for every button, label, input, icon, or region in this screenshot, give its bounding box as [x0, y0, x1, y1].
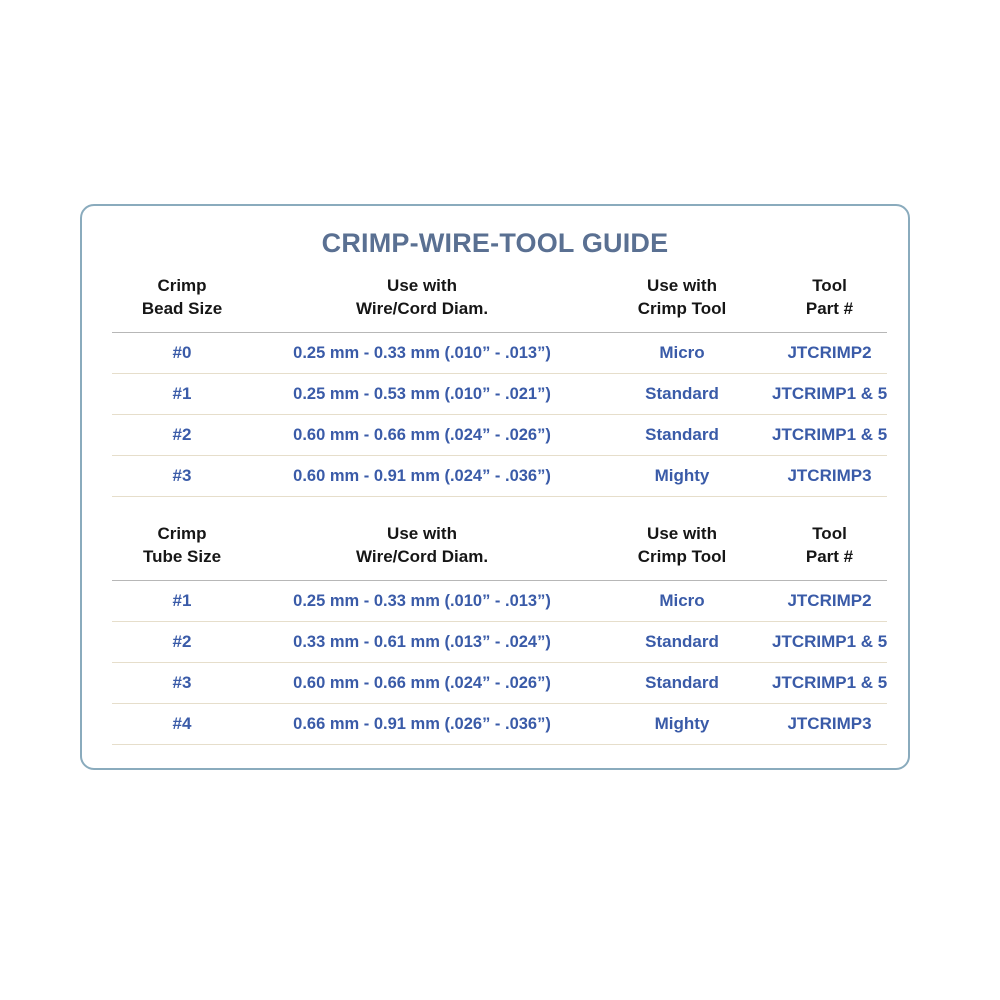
cell-tool-part-number: JTCRIMP1 & 5 — [772, 384, 887, 404]
column-header-wire-cord-diam: Use with Wire/Cord Diam. — [252, 522, 592, 569]
page-title: CRIMP-WIRE-TOOL GUIDE — [82, 228, 908, 259]
cell-bead-size: #0 — [112, 343, 252, 363]
column-header-crimp-tool: Use with Crimp Tool — [592, 274, 772, 321]
table-row: #0 0.25 mm - 0.33 mm (.010” - .013”) Mic… — [112, 333, 887, 373]
crimp-wire-tool-guide-card: CRIMP-WIRE-TOOL GUIDE Crimp Bead Size Us… — [80, 204, 910, 770]
table-row: #2 0.33 mm - 0.61 mm (.013” - .024”) Sta… — [112, 622, 887, 662]
table-header-row: Crimp Tube Size Use with Wire/Cord Diam.… — [112, 522, 887, 580]
cell-bead-size: #3 — [112, 466, 252, 486]
cell-tool-part-number: JTCRIMP1 & 5 — [772, 425, 887, 445]
cell-tool-part-number: JTCRIMP1 & 5 — [772, 673, 887, 693]
cell-tube-size: #3 — [112, 673, 252, 693]
cell-crimp-tool: Micro — [592, 591, 772, 611]
cell-tube-size: #4 — [112, 714, 252, 734]
column-header-crimp-tool: Use with Crimp Tool — [592, 522, 772, 569]
cell-crimp-tool: Standard — [592, 384, 772, 404]
cell-bead-size: #2 — [112, 425, 252, 445]
column-header-tool-part-number: Tool Part # — [772, 522, 887, 569]
cell-crimp-tool: Standard — [592, 673, 772, 693]
cell-crimp-tool: Mighty — [592, 714, 772, 734]
cell-wire-cord-diam: 0.25 mm - 0.33 mm (.010” - .013”) — [252, 344, 592, 363]
cell-bead-size: #1 — [112, 384, 252, 404]
crimp-tube-table: Crimp Tube Size Use with Wire/Cord Diam.… — [112, 522, 887, 745]
column-header-crimp-bead-size: Crimp Bead Size — [112, 274, 252, 321]
cell-tube-size: #2 — [112, 632, 252, 652]
crimp-bead-table: Crimp Bead Size Use with Wire/Cord Diam.… — [112, 274, 887, 497]
table-row: #3 0.60 mm - 0.91 mm (.024” - .036”) Mig… — [112, 456, 887, 496]
cell-crimp-tool: Standard — [592, 632, 772, 652]
cell-tool-part-number: JTCRIMP3 — [772, 714, 887, 734]
cell-tool-part-number: JTCRIMP2 — [772, 591, 887, 611]
table-row: #3 0.60 mm - 0.66 mm (.024” - .026”) Sta… — [112, 663, 887, 703]
table-row: #4 0.66 mm - 0.91 mm (.026” - .036”) Mig… — [112, 704, 887, 744]
cell-wire-cord-diam: 0.25 mm - 0.53 mm (.010” - .021”) — [252, 385, 592, 404]
table-header-row: Crimp Bead Size Use with Wire/Cord Diam.… — [112, 274, 887, 332]
cell-wire-cord-diam: 0.60 mm - 0.91 mm (.024” - .036”) — [252, 467, 592, 486]
cell-wire-cord-diam: 0.25 mm - 0.33 mm (.010” - .013”) — [252, 592, 592, 611]
column-header-tool-part-number: Tool Part # — [772, 274, 887, 321]
cell-tube-size: #1 — [112, 591, 252, 611]
cell-tool-part-number: JTCRIMP2 — [772, 343, 887, 363]
cell-crimp-tool: Standard — [592, 425, 772, 445]
column-header-crimp-tube-size: Crimp Tube Size — [112, 522, 252, 569]
table-bottom-divider — [112, 744, 887, 745]
cell-wire-cord-diam: 0.60 mm - 0.66 mm (.024” - .026”) — [252, 426, 592, 445]
table-row: #1 0.25 mm - 0.53 mm (.010” - .021”) Sta… — [112, 374, 887, 414]
cell-tool-part-number: JTCRIMP3 — [772, 466, 887, 486]
cell-crimp-tool: Mighty — [592, 466, 772, 486]
cell-crimp-tool: Micro — [592, 343, 772, 363]
table-row: #1 0.25 mm - 0.33 mm (.010” - .013”) Mic… — [112, 581, 887, 621]
cell-wire-cord-diam: 0.60 mm - 0.66 mm (.024” - .026”) — [252, 674, 592, 693]
cell-tool-part-number: JTCRIMP1 & 5 — [772, 632, 887, 652]
table-row: #2 0.60 mm - 0.66 mm (.024” - .026”) Sta… — [112, 415, 887, 455]
cell-wire-cord-diam: 0.66 mm - 0.91 mm (.026” - .036”) — [252, 715, 592, 734]
column-header-wire-cord-diam: Use with Wire/Cord Diam. — [252, 274, 592, 321]
table-bottom-divider — [112, 496, 887, 497]
cell-wire-cord-diam: 0.33 mm - 0.61 mm (.013” - .024”) — [252, 633, 592, 652]
